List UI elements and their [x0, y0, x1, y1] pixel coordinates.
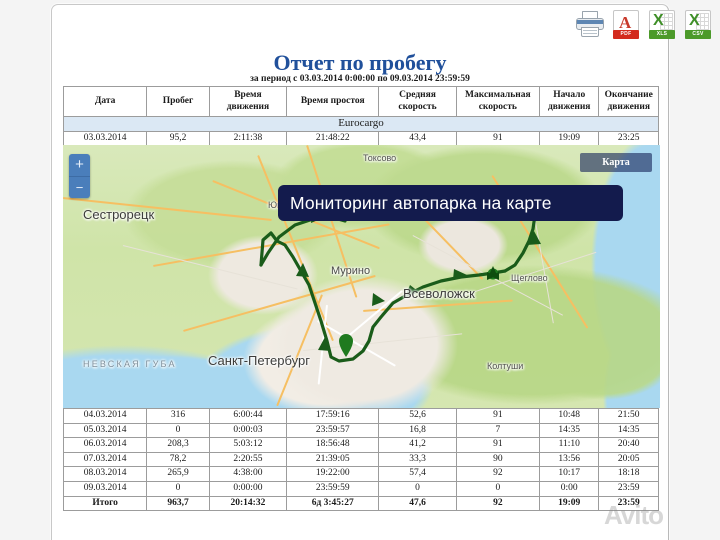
table-cell: 963,7	[147, 496, 209, 511]
table-cell: 08.03.2014	[64, 467, 147, 482]
table-cell: 265,9	[147, 467, 209, 482]
table-cell: 2:20:55	[209, 452, 286, 467]
table-cell: 20:40	[599, 438, 659, 453]
table-cell: 0	[379, 481, 456, 496]
table-cell: 91	[456, 409, 539, 424]
zoom-in-button[interactable]: +	[69, 154, 90, 176]
table-row: 09.03.201400:00:0023:59:59000:0023:59	[64, 481, 659, 496]
printer-strip	[577, 20, 603, 24]
table-cell: 43,4	[379, 132, 456, 147]
table-cell: 18:18	[599, 467, 659, 482]
table-cell: 20:05	[599, 452, 659, 467]
export-xls-icon[interactable]: X XLS	[647, 9, 677, 40]
table-cell: 03.03.2014	[64, 132, 147, 147]
table-cell: 6д 3:45:27	[287, 496, 379, 511]
table-cell: 23:25	[599, 132, 659, 147]
table-row: 07.03.201478,22:20:5521:39:0533,39013:56…	[64, 452, 659, 467]
page-title: Отчет по пробегу	[51, 50, 669, 76]
table-cell: 06.03.2014	[64, 438, 147, 453]
table-cell: 19:22:00	[287, 467, 379, 482]
csv-tag-label: CSV	[685, 30, 711, 39]
table-cell: 21:50	[599, 409, 659, 424]
table-header-cell: Окончаниедвижения	[599, 87, 659, 117]
table-group-row: Eurocargo	[64, 117, 659, 132]
table-cell: 92	[456, 496, 539, 511]
table-cell: 5:03:12	[209, 438, 286, 453]
report-table-top: ДатаПробегВремядвиженияВремя простояСред…	[63, 86, 659, 147]
table-cell: 14:35	[539, 423, 599, 438]
table-cell: 7	[456, 423, 539, 438]
table-cell: 10:17	[539, 467, 599, 482]
watermark: Avito	[604, 500, 663, 531]
table-cell: 208,3	[147, 438, 209, 453]
table-cell: 19:09	[539, 132, 599, 147]
table-cell: 18:56:48	[287, 438, 379, 453]
table-cell: 0	[147, 481, 209, 496]
export-toolbar: A PDF X XLS X CSV	[575, 9, 713, 40]
table-row: 08.03.2014265,94:38:0019:22:0057,49210:1…	[64, 467, 659, 482]
table-row: 06.03.2014208,35:03:1218:56:4841,29111:1…	[64, 438, 659, 453]
printer-line-2	[583, 33, 597, 34]
table-cell: 57,4	[379, 467, 456, 482]
map-layer-button[interactable]: Карта	[580, 153, 652, 172]
pdf-tag-label: PDF	[613, 30, 639, 39]
table-cell: 90	[456, 452, 539, 467]
table-row: Итого963,720:14:326д 3:45:2747,69219:092…	[64, 496, 659, 511]
table-cell: 17:59:16	[287, 409, 379, 424]
table-row: 05.03.201400:00:0323:59:5716,8714:3514:3…	[64, 423, 659, 438]
table-cell: 23:59	[599, 481, 659, 496]
table-cell: 0	[147, 423, 209, 438]
map-label: НЕВСКАЯ ГУБА	[83, 359, 177, 369]
printer-paper-out	[581, 27, 599, 37]
table-cell: 0:00	[539, 481, 599, 496]
map-label: Всеволожск	[403, 286, 475, 301]
report-table-bottom: 04.03.20143166:00:4417:59:1652,69110:482…	[63, 408, 659, 511]
table-cell: 47,6	[379, 496, 456, 511]
table-cell: 4:38:00	[209, 467, 286, 482]
map-label: Мурино	[331, 265, 370, 277]
table-cell: 78,2	[147, 452, 209, 467]
table-cell: 41,2	[379, 438, 456, 453]
print-icon[interactable]	[575, 9, 605, 40]
table-cell: 316	[147, 409, 209, 424]
table-header-cell: Время простоя	[287, 87, 379, 117]
table-header-cell: Максимальнаяскорость	[456, 87, 539, 117]
table-cell: 92	[456, 467, 539, 482]
table-cell: 23:59:59	[287, 481, 379, 496]
printer-line-1	[583, 30, 597, 31]
table-cell: 05.03.2014	[64, 423, 147, 438]
vehicle-group-label: Eurocargo	[64, 117, 659, 132]
table-header-cell: Дата	[64, 87, 147, 117]
table-cell: 04.03.2014	[64, 409, 147, 424]
table-header-cell: Началодвижения	[539, 87, 599, 117]
table-cell: 19:09	[539, 496, 599, 511]
table-row: 04.03.20143166:00:4417:59:1652,69110:482…	[64, 409, 659, 424]
screenshot-root: A PDF X XLS X CSV Отчет по пробегу за пе…	[0, 0, 720, 540]
map-label: Токсово	[363, 153, 396, 163]
promo-banner: Мониторинг автопарка на карте	[278, 185, 623, 221]
table-cell: 52,6	[379, 409, 456, 424]
xls-x-glyph: X	[653, 13, 664, 29]
export-csv-icon[interactable]: X CSV	[683, 9, 713, 40]
table-row: 03.03.201495,22:11:3821:48:2243,49119:09…	[64, 132, 659, 147]
map-label: Колтуши	[487, 361, 523, 371]
table-cell: 91	[456, 132, 539, 147]
table-cell: Итого	[64, 496, 147, 511]
table-cell: 0:00:03	[209, 423, 286, 438]
promo-banner-text: Мониторинг автопарка на карте	[290, 193, 552, 214]
table-cell: 20:14:32	[209, 496, 286, 511]
table-cell: 33,3	[379, 452, 456, 467]
table-cell: 0	[456, 481, 539, 496]
table-cell: 91	[456, 438, 539, 453]
map-label: Санкт-Петербург	[208, 353, 310, 368]
csv-x-glyph: X	[689, 13, 700, 29]
export-pdf-icon[interactable]: A PDF	[611, 9, 641, 40]
table-cell: 6:00:44	[209, 409, 286, 424]
xls-tag-label: XLS	[649, 30, 675, 39]
table-header-row: ДатаПробегВремядвиженияВремя простояСред…	[64, 87, 659, 117]
zoom-out-button[interactable]: −	[69, 176, 90, 198]
table-cell: 21:48:22	[287, 132, 379, 147]
map-zoom-control[interactable]: + −	[69, 154, 90, 198]
table-cell: 11:10	[539, 438, 599, 453]
table-cell: 21:39:05	[287, 452, 379, 467]
table-header-cell: Пробег	[147, 87, 209, 117]
table-cell: 13:56	[539, 452, 599, 467]
map-label: Щеглово	[511, 273, 548, 283]
table-cell: 07.03.2014	[64, 452, 147, 467]
table-header-cell: Средняяскорость	[379, 87, 456, 117]
table-cell: 09.03.2014	[64, 481, 147, 496]
table-cell: 23:59:57	[287, 423, 379, 438]
table-header-cell: Времядвижения	[209, 87, 286, 117]
table-cell: 0:00:00	[209, 481, 286, 496]
table-cell: 16,8	[379, 423, 456, 438]
map-label: Сестрорецк	[83, 207, 154, 222]
pdf-glyph: A	[619, 14, 636, 31]
table-cell: 95,2	[147, 132, 209, 147]
table-cell: 14:35	[599, 423, 659, 438]
table-cell: 10:48	[539, 409, 599, 424]
table-cell: 2:11:38	[209, 132, 286, 147]
report-period-subtitle: за период с 03.03.2014 0:00:00 по 09.03.…	[51, 74, 669, 84]
